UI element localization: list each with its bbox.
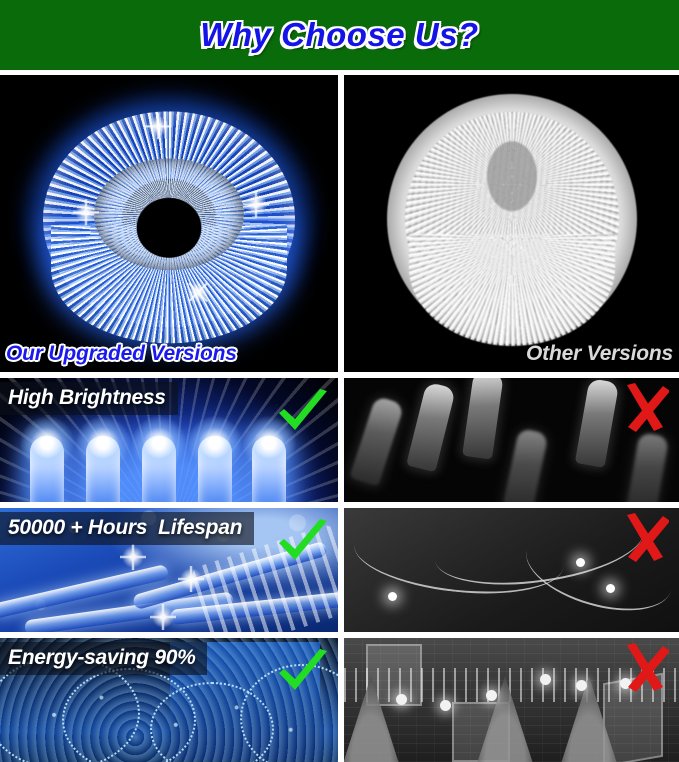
feature-label-lifespan: 50000 + Hours Lifespan — [0, 512, 254, 545]
feature-label-brightness: High Brightness — [0, 382, 178, 415]
feature-cell-others-energy — [344, 638, 679, 762]
feature-cell-ours-lifespan: 50000 + Hours Lifespan — [0, 508, 338, 632]
hero-cell-ours: Our Upgraded Versions — [0, 75, 338, 372]
comparison-infographic: Why Choose Us? Our Up — [0, 0, 679, 762]
page-title: Why Choose Us? — [200, 16, 478, 54]
feature-cell-ours-brightness: High Brightness — [0, 378, 338, 502]
x-icon — [621, 382, 669, 434]
check-icon — [274, 646, 332, 698]
comparison-grid: Our Upgraded Versions Other Versions — [0, 75, 679, 762]
hero-label-ours: Our Upgraded Versions — [6, 342, 237, 366]
row-divider-1 — [0, 372, 679, 378]
x-icon — [621, 642, 669, 694]
check-icon — [274, 386, 332, 438]
column-divider — [338, 75, 344, 762]
feature-cell-ours-energy: Energy-saving 90% — [0, 638, 338, 762]
feature-cell-others-brightness — [344, 378, 679, 502]
hero-label-others: Other Versions — [526, 342, 673, 366]
header-banner: Why Choose Us? — [0, 0, 679, 70]
feature-cell-others-lifespan — [344, 508, 679, 632]
row-divider-3 — [0, 632, 679, 638]
white-led-coil-image — [344, 75, 679, 372]
x-icon — [621, 512, 669, 564]
check-icon — [274, 516, 332, 568]
feature-label-energy: Energy-saving 90% — [0, 642, 207, 675]
blue-led-coil-image — [0, 75, 338, 372]
row-divider-2 — [0, 502, 679, 508]
hero-cell-others: Other Versions — [344, 75, 679, 372]
